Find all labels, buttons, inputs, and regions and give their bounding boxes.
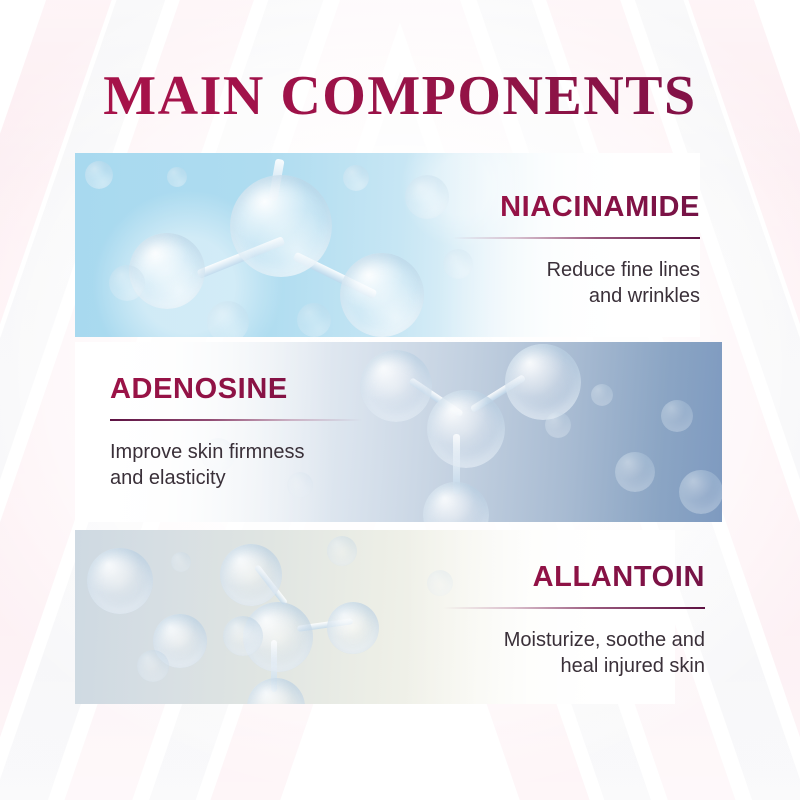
ingredient-description: Moisturize, soothe and heal injured skin bbox=[443, 627, 705, 680]
page-title: MAIN COMPONENTS bbox=[0, 68, 800, 124]
divider-rule bbox=[452, 237, 700, 239]
molecule-sphere bbox=[109, 265, 145, 301]
ingredient-text-adenosine: ADENOSINE Improve skin firmness and elas… bbox=[110, 374, 362, 492]
molecule-sphere bbox=[679, 470, 722, 514]
molecule-sphere bbox=[167, 167, 187, 187]
molecule-sphere bbox=[423, 482, 489, 522]
molecule-sphere bbox=[615, 452, 655, 492]
ingredient-name: ALLANTOIN bbox=[443, 562, 705, 594]
molecule-sphere bbox=[327, 602, 379, 654]
molecule-sphere bbox=[223, 616, 263, 656]
ingredient-name: NIACINAMIDE bbox=[452, 192, 700, 224]
molecule-sphere bbox=[343, 165, 369, 191]
ingredient-description: Improve skin firmness and elasticity bbox=[110, 439, 362, 492]
molecule-sphere bbox=[340, 253, 424, 337]
ingredient-description: Reduce fine lines and wrinkles bbox=[452, 257, 700, 310]
molecule-sphere bbox=[230, 175, 332, 277]
ingredient-text-allantoin: ALLANTOIN Moisturize, soothe and heal in… bbox=[443, 562, 705, 680]
molecule-sphere bbox=[591, 384, 613, 406]
ingredient-text-niacinamide: NIACINAMIDE Reduce fine lines and wrinkl… bbox=[452, 192, 700, 310]
divider-rule bbox=[443, 607, 705, 609]
molecule-sphere bbox=[247, 678, 305, 704]
molecule-sphere bbox=[661, 400, 693, 432]
molecule-sphere bbox=[545, 412, 571, 438]
molecule-sphere bbox=[505, 344, 581, 420]
molecule-sphere bbox=[137, 650, 169, 682]
molecule-sphere bbox=[171, 552, 191, 572]
ingredient-name: ADENOSINE bbox=[110, 374, 362, 406]
molecule-sphere bbox=[87, 548, 153, 614]
molecule-sphere bbox=[427, 390, 505, 468]
molecule-sphere bbox=[360, 350, 432, 422]
molecule-sphere bbox=[327, 536, 357, 566]
molecule-sphere bbox=[207, 301, 249, 337]
divider-rule bbox=[110, 419, 362, 421]
infographic-page: MAIN COMPONENTS NIACINAMIDE Reduce fine … bbox=[0, 0, 800, 800]
molecule-sphere bbox=[220, 544, 282, 606]
molecule-sphere bbox=[85, 161, 113, 189]
molecule-sphere bbox=[297, 303, 331, 337]
